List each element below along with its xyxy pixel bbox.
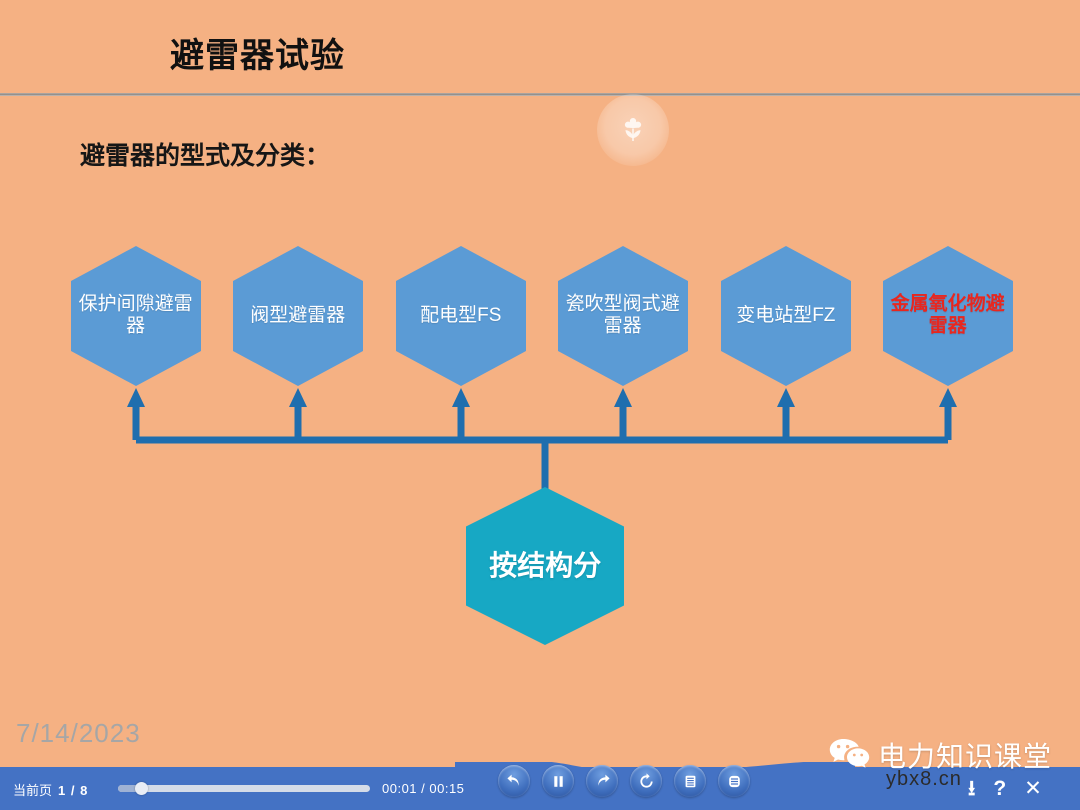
flow-node-hex[interactable]: 保护间隙避雷器 bbox=[71, 246, 201, 386]
flow-node-label: 保护间隙避雷器 bbox=[76, 294, 196, 339]
forward-button[interactable] bbox=[586, 765, 618, 797]
help-button[interactable]: ? bbox=[993, 778, 1006, 799]
page-indicator-value: 1 / 8 bbox=[58, 783, 88, 798]
menu-button[interactable] bbox=[718, 765, 750, 797]
flow-node-hex[interactable]: 金属氧化物避雷器 bbox=[883, 246, 1013, 386]
flow-node-hex[interactable]: 阀型避雷器 bbox=[233, 246, 363, 386]
header-divider bbox=[0, 93, 1080, 96]
site-watermark: ybx8.cn bbox=[886, 768, 962, 791]
notes-button[interactable] bbox=[674, 765, 706, 797]
flow-root-node[interactable]: 按结构分 bbox=[466, 487, 624, 645]
player-controls bbox=[498, 765, 750, 797]
pause-button[interactable] bbox=[542, 765, 574, 797]
flower-icon bbox=[597, 94, 669, 166]
replay-button[interactable] bbox=[630, 765, 662, 797]
flow-node-label: 金属氧化物避雷器 bbox=[888, 294, 1008, 339]
flow-node-label: 阀型避雷器 bbox=[238, 305, 358, 327]
flow-node-label: 配电型FS bbox=[401, 305, 521, 327]
rewind-button[interactable] bbox=[498, 765, 530, 797]
page-indicator-label: 当前页 bbox=[13, 783, 52, 798]
flow-root-label: 按结构分 bbox=[480, 549, 610, 583]
slide-subtitle: 避雷器的型式及分类： bbox=[80, 136, 330, 172]
progress-handle[interactable] bbox=[135, 782, 148, 795]
progress-slider[interactable] bbox=[118, 785, 370, 792]
slide-date: 7/14/2023 bbox=[16, 718, 141, 749]
player-right-icons: ⭳ ? ✕ bbox=[968, 778, 1042, 799]
flow-connectors bbox=[0, 0, 1080, 810]
presentation-slide: 避雷器试验 避雷器的型式及分类： bbox=[0, 0, 1080, 810]
page-title: 避雷器试验 bbox=[170, 28, 345, 77]
slide-header: 避雷器试验 bbox=[0, 0, 1080, 93]
flow-node-label: 瓷吹型阀式避雷器 bbox=[563, 294, 683, 339]
download-button[interactable]: ⭳ bbox=[968, 778, 975, 799]
flow-node-hex[interactable]: 瓷吹型阀式避雷器 bbox=[558, 246, 688, 386]
time-display: 00:01 / 00:15 bbox=[382, 781, 464, 796]
flow-node-hex[interactable]: 变电站型FZ bbox=[721, 246, 851, 386]
flow-node-hex[interactable]: 配电型FS bbox=[396, 246, 526, 386]
wechat-icon bbox=[828, 737, 870, 774]
page-indicator: 当前页1 / 8 bbox=[13, 780, 88, 799]
flow-node-label: 变电站型FZ bbox=[726, 305, 846, 327]
close-button[interactable]: ✕ bbox=[1024, 778, 1042, 799]
